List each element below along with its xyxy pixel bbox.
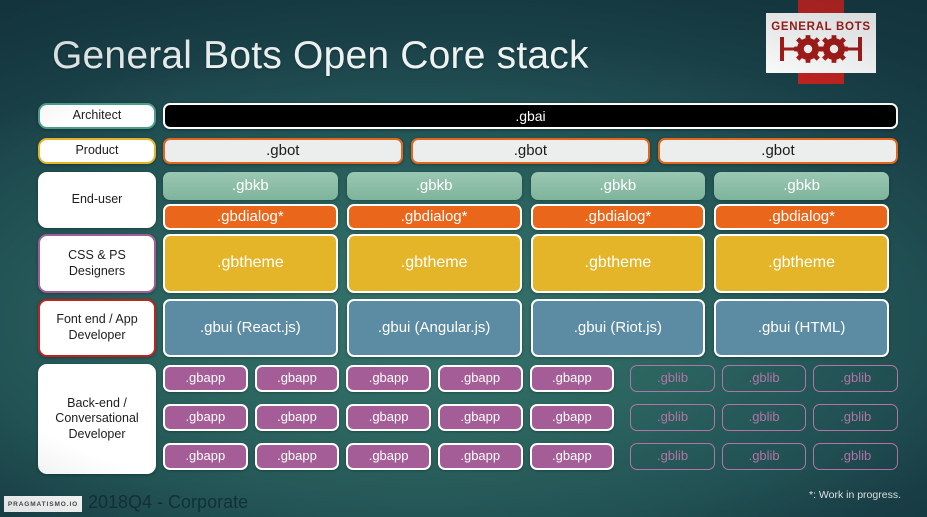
pragmatismo-wordmark: PRAGMATISMO.IO bbox=[8, 501, 78, 508]
cell-gbui-riot[interactable]: .gbui (Riot.js) bbox=[531, 299, 706, 357]
cell-gblib[interactable]: .gblib bbox=[722, 443, 807, 470]
row-gbot: .gbot .gbot .gbot bbox=[163, 138, 898, 164]
cell-gbot[interactable]: .gbot bbox=[163, 138, 403, 164]
two-gears-icon bbox=[778, 34, 864, 64]
logo-wordmark: GENERAL BOTS bbox=[771, 22, 871, 34]
cell-gbapp[interactable]: .gbapp bbox=[438, 365, 523, 392]
cell-gblib[interactable]: .gblib bbox=[813, 404, 898, 431]
role-label: Font end / App Developer bbox=[44, 312, 150, 343]
cell-gbapp[interactable]: .gbapp bbox=[346, 404, 431, 431]
role-front-end-app-developer: Font end / App Developer bbox=[38, 299, 156, 357]
cell-gbapp[interactable]: .gbapp bbox=[530, 365, 615, 392]
cell-gbapp[interactable]: .gbapp bbox=[255, 443, 340, 470]
cell-gblib[interactable]: .gblib bbox=[813, 365, 898, 392]
cell-gbui-html[interactable]: .gbui (HTML) bbox=[714, 299, 889, 357]
cell-gblib[interactable]: .gblib bbox=[722, 365, 807, 392]
role-label: End-user bbox=[72, 192, 123, 208]
row-gbai: .gbai bbox=[163, 103, 898, 129]
cell-gbdialog[interactable]: .gbdialog* bbox=[347, 204, 522, 230]
cell-gbtheme[interactable]: .gbtheme bbox=[714, 234, 889, 293]
row-gbapp-gblib-1: .gbapp .gbapp .gbapp .gbapp .gbapp .gbli… bbox=[163, 365, 898, 392]
row-gbtheme: .gbtheme .gbtheme .gbtheme .gbtheme bbox=[163, 234, 898, 293]
cell-gblib[interactable]: .gblib bbox=[722, 404, 807, 431]
cell-gbai[interactable]: .gbai bbox=[163, 103, 898, 129]
cell-gbdialog[interactable]: .gbdialog* bbox=[531, 204, 706, 230]
cell-gblib[interactable]: .gblib bbox=[630, 365, 715, 392]
row-gbapp-gblib-3: .gbapp .gbapp .gbapp .gbapp .gbapp .gbli… bbox=[163, 443, 898, 470]
cell-gbtheme[interactable]: .gbtheme bbox=[347, 234, 522, 293]
role-label: Product bbox=[75, 143, 118, 159]
cell-gbapp[interactable]: .gbapp bbox=[163, 443, 248, 470]
role-architect: Architect bbox=[38, 103, 156, 129]
general-bots-logo: GENERAL BOTS bbox=[766, 0, 876, 94]
cell-gbapp[interactable]: .gbapp bbox=[438, 404, 523, 431]
cell-gbkb[interactable]: .gbkb bbox=[163, 172, 338, 200]
footnote-work-in-progress: *: Work in progress. bbox=[809, 489, 901, 501]
role-end-user: End-user bbox=[38, 172, 156, 228]
cell-gbot[interactable]: .gbot bbox=[411, 138, 651, 164]
cell-gbapp[interactable]: .gbapp bbox=[346, 443, 431, 470]
cell-gbapp[interactable]: .gbapp bbox=[163, 365, 248, 392]
cell-gbapp[interactable]: .gbapp bbox=[438, 443, 523, 470]
cell-gbapp[interactable]: .gbapp bbox=[530, 443, 615, 470]
cell-gbapp[interactable]: .gbapp bbox=[346, 365, 431, 392]
page-title: General Bots Open Core stack bbox=[52, 34, 589, 78]
cell-gbkb[interactable]: .gbkb bbox=[531, 172, 706, 200]
cell-gblib[interactable]: .gblib bbox=[630, 404, 715, 431]
cell-gbdialog[interactable]: .gbdialog* bbox=[163, 204, 338, 230]
cell-gblib[interactable]: .gblib bbox=[813, 443, 898, 470]
cell-gbui-react[interactable]: .gbui (React.js) bbox=[163, 299, 338, 357]
slide-canvas: General Bots Open Core stack GENERAL BOT… bbox=[0, 0, 927, 517]
pragmatismo-logo: PRAGMATISMO.IO bbox=[4, 496, 82, 512]
cell-gbot[interactable]: .gbot bbox=[658, 138, 898, 164]
row-gbkb: .gbkb .gbkb .gbkb .gbkb bbox=[163, 172, 898, 200]
cell-gbtheme[interactable]: .gbtheme bbox=[163, 234, 338, 293]
cell-gbkb[interactable]: .gbkb bbox=[347, 172, 522, 200]
cell-gbdialog[interactable]: .gbdialog* bbox=[714, 204, 889, 230]
footer-caption: 2018Q4 - Corporate bbox=[88, 492, 248, 513]
cell-gbkb[interactable]: .gbkb bbox=[714, 172, 889, 200]
logo-card: GENERAL BOTS bbox=[766, 13, 876, 73]
role-back-end-conversational-developer: Back-end / Conversational Developer bbox=[38, 364, 156, 474]
cell-gbapp[interactable]: .gbapp bbox=[530, 404, 615, 431]
cell-gbui-angular[interactable]: .gbui (Angular.js) bbox=[347, 299, 522, 357]
cell-gbapp[interactable]: .gbapp bbox=[255, 365, 340, 392]
cell-gblib[interactable]: .gblib bbox=[630, 443, 715, 470]
role-product: Product bbox=[38, 138, 156, 164]
cell-gbapp[interactable]: .gbapp bbox=[255, 404, 340, 431]
role-label: CSS & PS Designers bbox=[44, 248, 150, 279]
row-gbapp-gblib-2: .gbapp .gbapp .gbapp .gbapp .gbapp .gbli… bbox=[163, 404, 898, 431]
role-label: Back-end / Conversational Developer bbox=[44, 396, 150, 443]
role-label: Architect bbox=[73, 108, 122, 124]
cell-gbapp[interactable]: .gbapp bbox=[163, 404, 248, 431]
cell-gbtheme[interactable]: .gbtheme bbox=[531, 234, 706, 293]
row-gbui: .gbui (React.js) .gbui (Angular.js) .gbu… bbox=[163, 299, 898, 357]
row-gbdialog: .gbdialog* .gbdialog* .gbdialog* .gbdial… bbox=[163, 204, 898, 230]
role-css-ps-designers: CSS & PS Designers bbox=[38, 234, 156, 293]
